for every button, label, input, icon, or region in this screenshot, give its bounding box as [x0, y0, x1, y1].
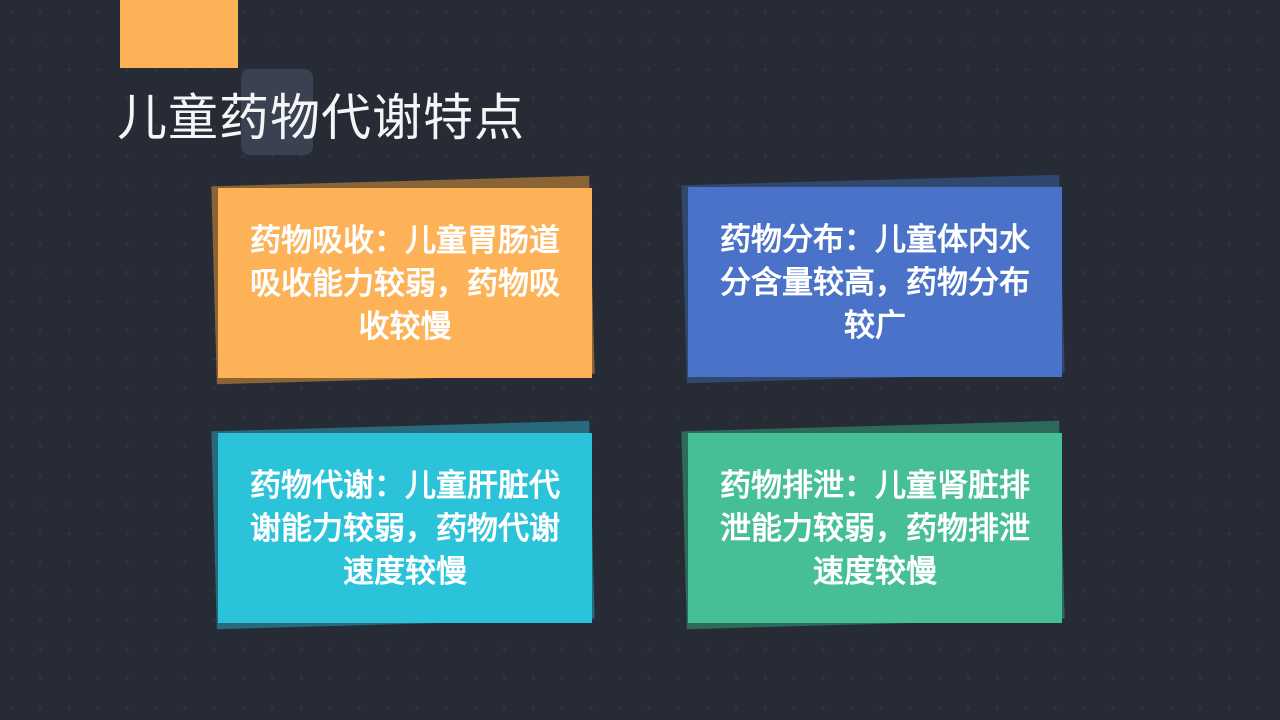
slide-canvas: 儿童药物代谢特点 药物吸收：儿童胃肠道吸收能力较弱，药物吸收较慢 药物分布：儿童… — [0, 0, 1280, 720]
card-text: 药物排泄：儿童肾脏排泄能力较弱，药物排泄速度较慢 — [688, 464, 1062, 593]
card-body[interactable]: 药物排泄：儿童肾脏排泄能力较弱，药物排泄速度较慢 — [688, 433, 1062, 623]
card-text: 药物代谢：儿童肝脏代谢能力较弱，药物代谢速度较慢 — [218, 464, 592, 593]
decorative-orange-block — [120, 0, 238, 68]
card-body[interactable]: 药物吸收：儿童胃肠道吸收能力较弱，药物吸收较慢 — [218, 188, 592, 378]
card-body[interactable]: 药物分布：儿童体内水分含量较高，药物分布较广 — [688, 187, 1062, 377]
page-title: 儿童药物代谢特点 — [117, 88, 525, 148]
card-text: 药物吸收：儿童胃肠道吸收能力较弱，药物吸收较慢 — [218, 219, 592, 348]
card-body[interactable]: 药物代谢：儿童肝脏代谢能力较弱，药物代谢速度较慢 — [218, 433, 592, 623]
card-text: 药物分布：儿童体内水分含量较高，药物分布较广 — [688, 218, 1062, 347]
